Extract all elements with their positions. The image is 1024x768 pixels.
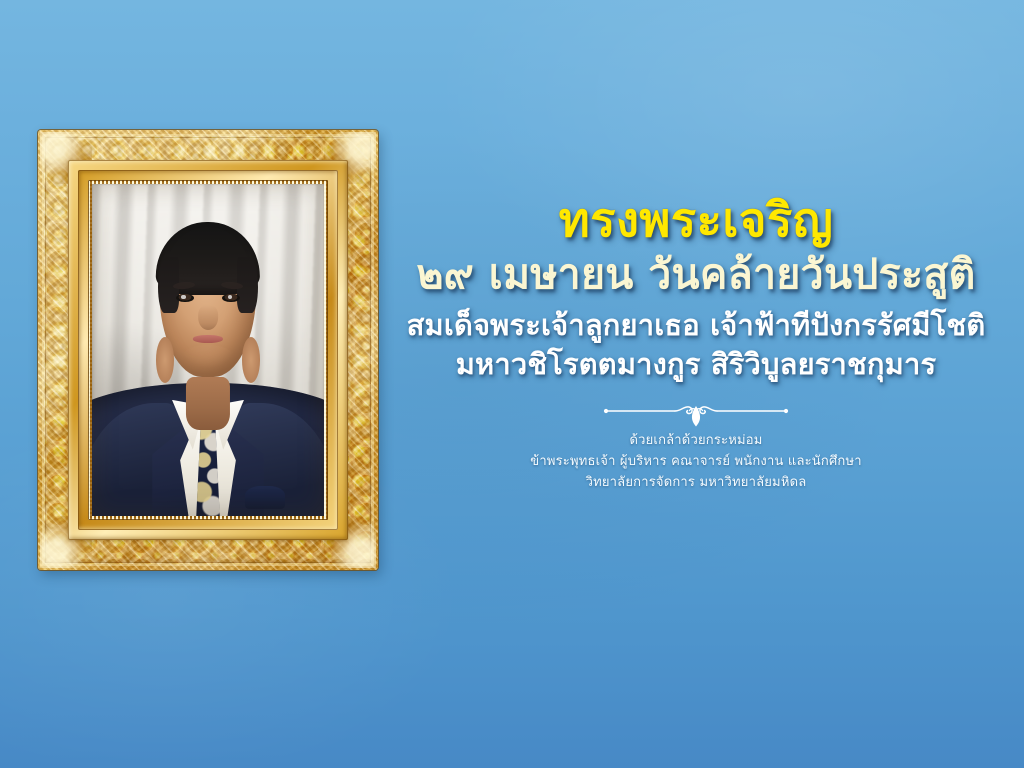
royal-name-line-2: มหาวชิโรตตมางกูร สิริวิบูลยราชกุมาร	[392, 345, 1000, 384]
mouth	[193, 335, 223, 343]
signoff-line-3: วิทยาลัยการจัดการ มหาวิทยาลัยมหิดล	[392, 472, 1000, 493]
ear-left	[156, 337, 175, 383]
message-block: ทรงพระเจริญ ๒๙ เมษายน วันคล้ายวันประสูติ…	[392, 196, 1000, 493]
neck	[186, 377, 230, 430]
eye-left	[176, 294, 195, 303]
headline-long-live-the-king: ทรงพระเจริญ	[392, 196, 1000, 246]
portrait-photo	[92, 184, 324, 516]
royal-name-line-1: สมเด็จพระเจ้าลูกยาเธอ เจ้าฟ้าทีปังกรรัศม…	[392, 306, 1000, 345]
signoff-line-1: ด้วยเกล้าด้วยกระหม่อม	[392, 430, 1000, 451]
birthday-date-line: ๒๙ เมษายน วันคล้ายวันประสูติ	[392, 252, 1000, 297]
fleuron-divider-icon	[601, 402, 791, 428]
portrait-subject	[92, 184, 324, 516]
signoff-block: ด้วยเกล้าด้วยกระหม่อม ข้าพระพุทธเจ้า ผู้…	[392, 430, 1000, 493]
signoff-line-2: ข้าพระพุทธเจ้า ผู้บริหาร คณาจารย์ พนักงา…	[392, 451, 1000, 472]
celebration-poster: ทรงพระเจริญ ๒๙ เมษายน วันคล้ายวันประสูติ…	[0, 0, 1024, 768]
portrait-frame	[38, 130, 378, 570]
nose	[198, 305, 218, 330]
ear-right	[242, 337, 261, 383]
suit-pocket-square	[245, 486, 284, 509]
fleuron-divider	[601, 402, 791, 428]
